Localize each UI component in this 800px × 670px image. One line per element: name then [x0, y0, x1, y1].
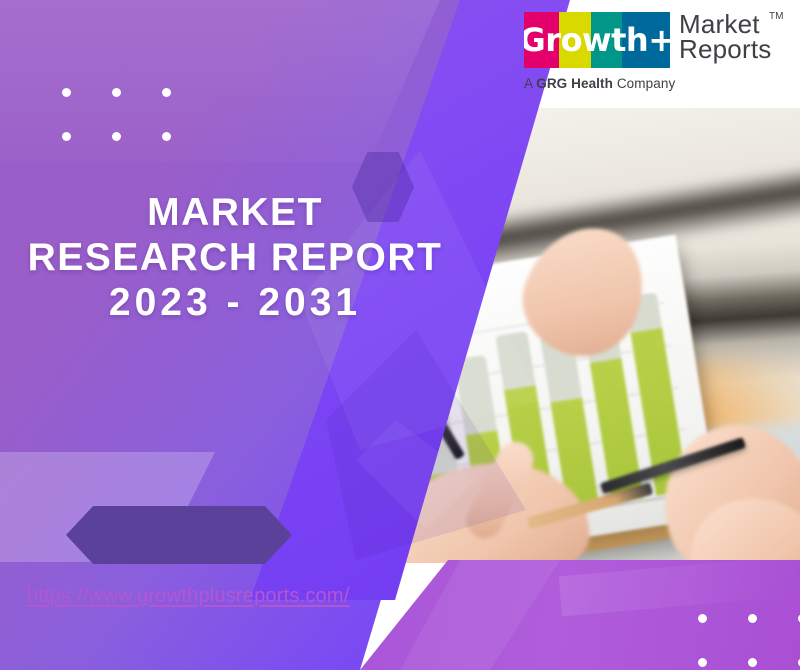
- decorative-dot: [62, 132, 71, 141]
- decorative-dot: [748, 658, 757, 667]
- decorative-dot: [162, 132, 171, 141]
- tagline-bold: GRG Health: [536, 76, 613, 91]
- logo-primary-row: Growth+ Market Reports TM: [524, 12, 788, 68]
- dot-grid-top-left: [62, 88, 172, 142]
- report-cover: MARKET RESEARCH REPORT 2023 - 2031 https…: [0, 0, 800, 670]
- logo-text-block: Market Reports TM: [670, 12, 771, 68]
- hexagon-bar-shape: [66, 506, 292, 564]
- title-line-2: RESEARCH REPORT: [0, 235, 470, 280]
- tagline-prefix: A: [524, 76, 536, 91]
- decorative-dot: [698, 658, 707, 667]
- website-url-link[interactable]: https://www.growthplusreports.com/: [27, 585, 349, 608]
- logo-text-reports: Reports: [679, 37, 771, 62]
- title-line-1: MARKET: [0, 190, 470, 235]
- logo-wordmark: Growth+: [524, 12, 670, 68]
- company-logo: Growth+ Market Reports TM A GRG Health C…: [524, 12, 788, 98]
- cover-title: MARKET RESEARCH REPORT 2023 - 2031: [0, 190, 470, 326]
- decorative-dot: [698, 614, 707, 623]
- decorative-dot: [62, 88, 71, 97]
- decorative-dot: [162, 88, 171, 97]
- dot-grid-bottom-right: [698, 614, 800, 668]
- decorative-dot: [748, 614, 757, 623]
- tagline-suffix: Company: [613, 76, 675, 91]
- title-line-3: 2023 - 2031: [0, 280, 470, 325]
- decorative-dot: [112, 88, 121, 97]
- logo-color-bands: Growth+: [524, 12, 670, 68]
- trademark-icon: TM: [769, 12, 783, 22]
- decorative-dot: [112, 132, 121, 141]
- logo-tagline: A GRG Health Company: [524, 76, 788, 91]
